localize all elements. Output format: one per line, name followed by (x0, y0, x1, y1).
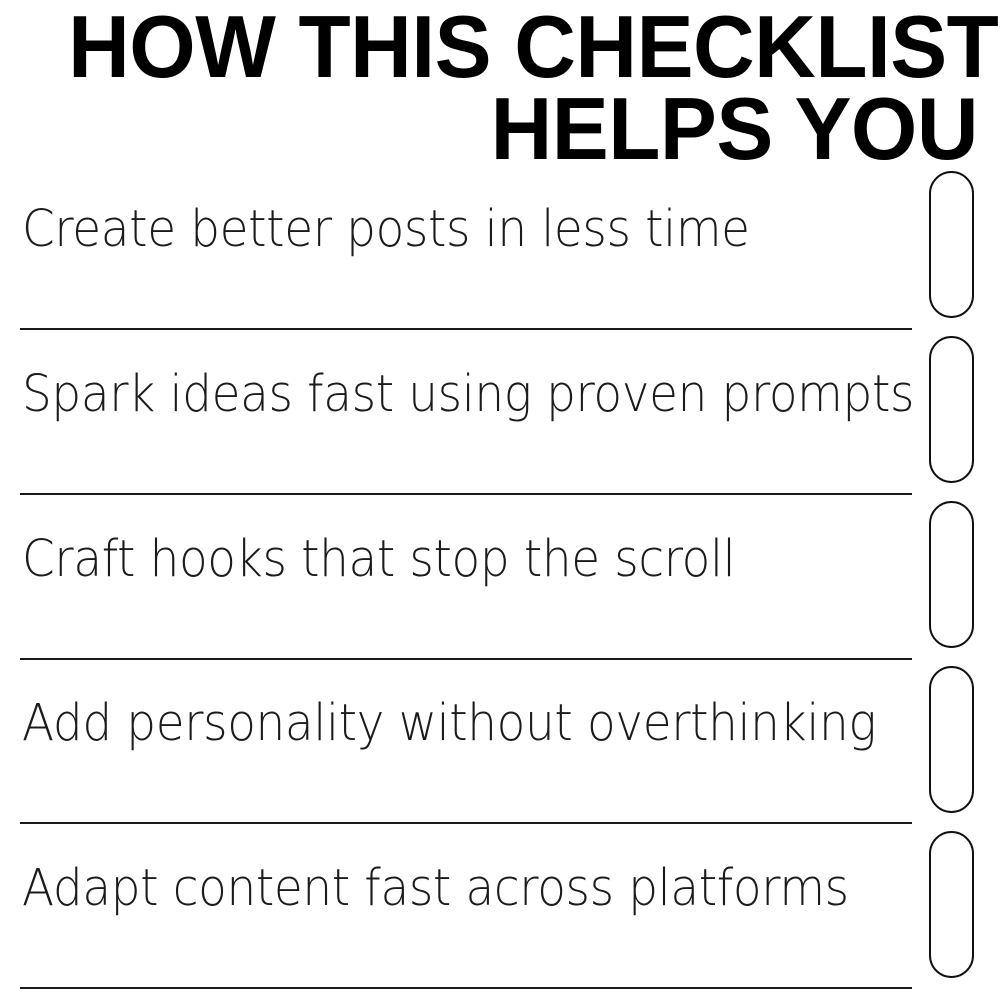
checklist-row[interactable]: Create better posts in less time (0, 165, 1000, 330)
checklist-poster: HOW THIS CHECKLIST HELPS YOU Create bett… (0, 0, 1000, 1000)
checklist-item-label: Adapt content fast across platforms (22, 858, 832, 920)
page-title: HOW THIS CHECKLIST HELPS YOU (40, 6, 978, 170)
checkbox-pill-5[interactable] (929, 831, 974, 978)
checklist-item-label: Craft hooks that stop the scroll (22, 529, 832, 591)
checkbox-pill-2[interactable] (929, 336, 974, 483)
checklist-row[interactable]: Add personality without overthinking (0, 659, 1000, 824)
checklist-item-label: Add personality without overthinking (22, 693, 832, 755)
page-title-line-2: HELPS YOU (68, 88, 978, 170)
checklist-item-label: Spark ideas fast using proven prompts (22, 364, 832, 426)
checklist-row[interactable]: Spark ideas fast using proven prompts (0, 330, 1000, 495)
page-title-line-1: HOW THIS CHECKLIST (68, 6, 978, 88)
checkbox-pill-3[interactable] (929, 501, 974, 648)
row-divider (20, 987, 912, 989)
checklist-item-label: Create better posts in less time (22, 199, 832, 261)
checklist: Create better posts in less time Spark i… (0, 165, 1000, 990)
checklist-row[interactable]: Craft hooks that stop the scroll (0, 495, 1000, 660)
checkbox-pill-1[interactable] (929, 171, 974, 318)
checklist-row[interactable]: Adapt content fast across platforms (0, 824, 1000, 989)
checkbox-pill-4[interactable] (929, 666, 974, 813)
